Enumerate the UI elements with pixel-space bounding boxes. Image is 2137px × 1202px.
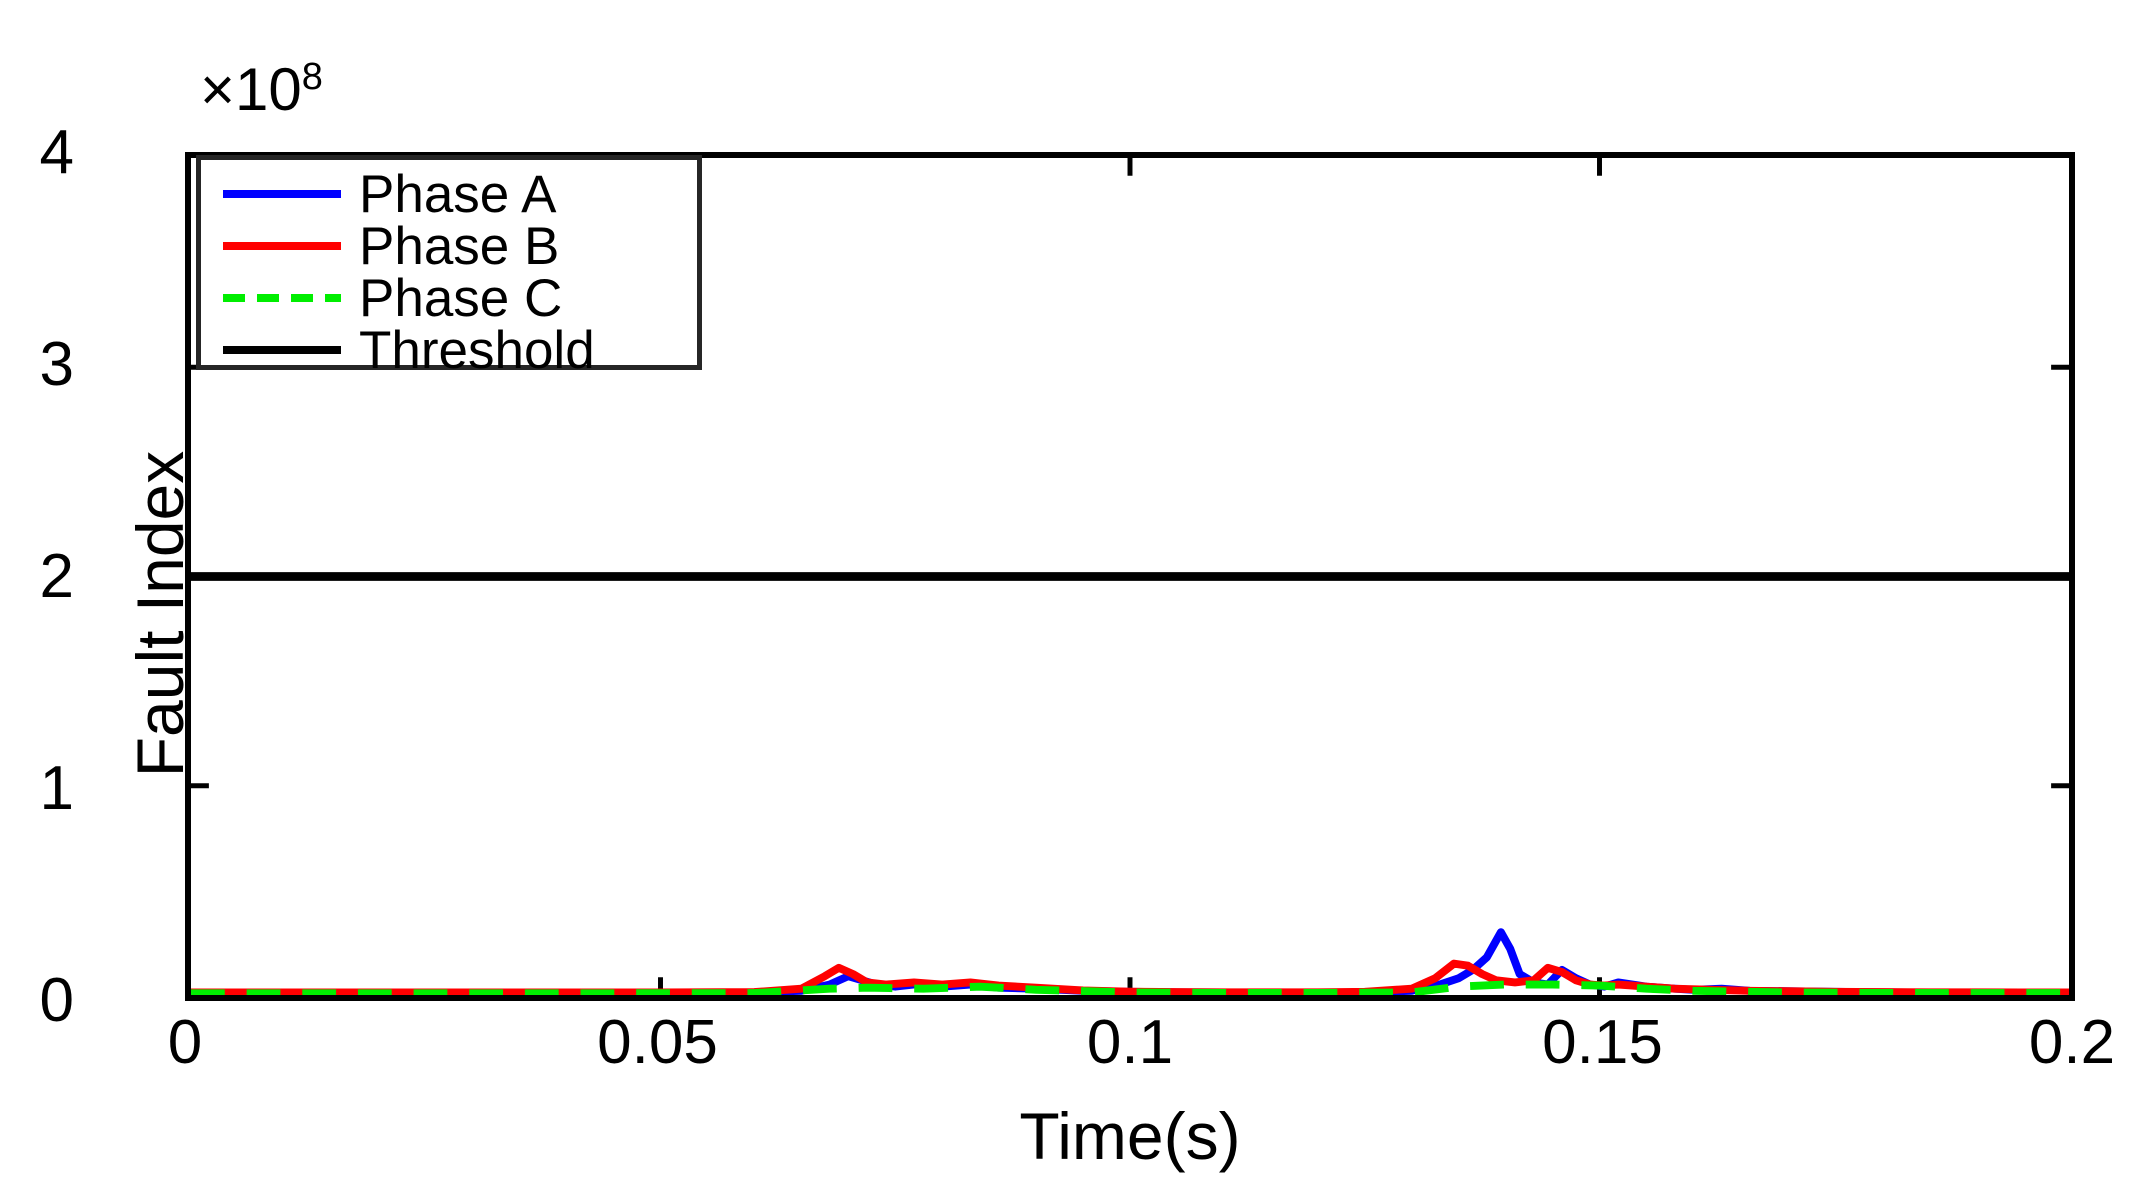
legend-swatch-phase-b [223, 242, 341, 250]
x-tick-label-1: 0.05 [597, 1012, 718, 1074]
legend-swatch-phase-a [223, 190, 341, 198]
y-tick-label-1: 1 [0, 758, 74, 820]
legend-item-threshold[interactable]: Threshold [201, 324, 697, 376]
legend-label-threshold: Threshold [359, 324, 595, 377]
legend-item-phase-a[interactable]: Phase A [201, 168, 697, 220]
chart-legend: Phase A Phase B Phase C Threshold [196, 155, 702, 370]
legend-label-phase-a: Phase A [359, 168, 556, 221]
legend-item-phase-b[interactable]: Phase B [201, 220, 697, 272]
x-tick-label-2: 0.1 [1087, 1012, 1173, 1074]
y-tick-label-3: 3 [0, 334, 74, 396]
x-axis-title: Time(s) [185, 1098, 2075, 1174]
y-tick-label-0: 0 [0, 970, 74, 1032]
x-tick-label-3: 0.15 [1542, 1012, 1663, 1074]
legend-item-phase-c[interactable]: Phase C [201, 272, 697, 324]
x-tick-label-4: 0.2 [2029, 1012, 2115, 1074]
y-axis-exponent-base: ×10 [200, 56, 302, 123]
y-tick-label-4: 4 [0, 122, 74, 184]
y-axis-exponent-power: 8 [302, 56, 323, 98]
legend-label-phase-c: Phase C [359, 272, 562, 325]
legend-label-phase-b: Phase B [359, 220, 559, 273]
legend-swatch-threshold [223, 346, 341, 354]
figure-canvas: ×108 Fault Index 0 1 2 3 4 [0, 0, 2137, 1202]
y-tick-label-2: 2 [0, 546, 74, 608]
legend-swatch-phase-c [223, 294, 341, 302]
x-tick-label-0: 0 [168, 1012, 202, 1074]
y-axis-exponent: ×108 [200, 58, 323, 120]
data-series-layer [191, 577, 2069, 994]
